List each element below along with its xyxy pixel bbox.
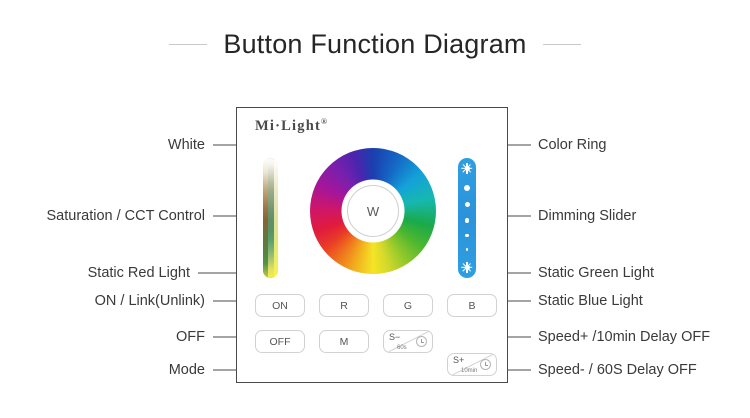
title-rule-right xyxy=(543,44,581,45)
registered-trademark-icon: ® xyxy=(321,117,327,126)
speed-up-delay-label: 10min xyxy=(461,367,477,375)
dimming-dot-5 xyxy=(466,248,469,251)
title-rule-left xyxy=(169,44,207,45)
device-panel: Mi·Light® W ON R G B OFF xyxy=(236,107,508,383)
speed-down-delay-label: 60s xyxy=(397,344,407,352)
on-button-label: ON xyxy=(272,300,288,312)
red-button[interactable]: R xyxy=(319,294,369,317)
blue-button-label: B xyxy=(468,300,475,312)
blue-button[interactable]: B xyxy=(447,294,497,317)
speed-up-label: S+ xyxy=(453,355,464,366)
callout-color-ring: Color Ring xyxy=(538,137,607,153)
clock-icon xyxy=(480,359,491,370)
callout-static-blue-light: Static Blue Light xyxy=(538,293,643,309)
green-button[interactable]: G xyxy=(383,294,433,317)
speed-up-delay-button[interactable]: S+ 10min xyxy=(447,353,497,376)
brand-logo-text: Mi·Light xyxy=(255,118,321,134)
callout-dimming-slider: Dimming Slider xyxy=(538,208,636,224)
speed-down-delay-button[interactable]: S− 60s xyxy=(383,330,433,353)
dimming-dot-3 xyxy=(465,218,470,223)
callout-off: OFF xyxy=(176,329,205,345)
white-button[interactable]: W xyxy=(347,185,399,237)
callout-static-red-light: Static Red Light xyxy=(88,265,190,281)
dimming-dot-1 xyxy=(464,185,470,191)
dimming-dot-4 xyxy=(465,234,469,238)
white-button-label: W xyxy=(367,204,379,219)
clock-icon xyxy=(416,336,427,347)
off-button-label: OFF xyxy=(270,336,291,348)
callout-static-green-light: Static Green Light xyxy=(538,265,654,281)
saturation-gradient-left xyxy=(263,158,268,278)
callout-on-link-unlink: ON / Link(Unlink) xyxy=(95,293,205,309)
off-button[interactable]: OFF xyxy=(255,330,305,353)
green-button-label: G xyxy=(404,300,412,312)
mode-button[interactable]: M xyxy=(319,330,369,353)
callout-speed-down-delay: Speed- / 60S Delay OFF xyxy=(538,362,697,378)
sun-icon-bottom xyxy=(462,262,473,273)
page-header: Button Function Diagram xyxy=(0,24,750,64)
speed-down-label: S− xyxy=(389,332,400,343)
mode-button-label: M xyxy=(340,336,349,348)
dimming-slider[interactable] xyxy=(458,158,476,278)
page-title: Button Function Diagram xyxy=(223,29,526,60)
on-button[interactable]: ON xyxy=(255,294,305,317)
saturation-gradient-right xyxy=(274,158,278,278)
red-button-label: R xyxy=(340,300,348,312)
dimming-dot-2 xyxy=(465,202,470,207)
callout-saturation-cct: Saturation / CCT Control xyxy=(47,208,206,224)
brand-logo: Mi·Light® xyxy=(255,117,327,135)
callout-speed-up-delay: Speed+ /10min Delay OFF xyxy=(538,329,710,345)
callout-mode: Mode xyxy=(169,362,205,378)
callout-white: White xyxy=(168,137,205,153)
saturation-cct-slider[interactable] xyxy=(263,158,278,278)
sun-icon-top xyxy=(462,163,473,174)
